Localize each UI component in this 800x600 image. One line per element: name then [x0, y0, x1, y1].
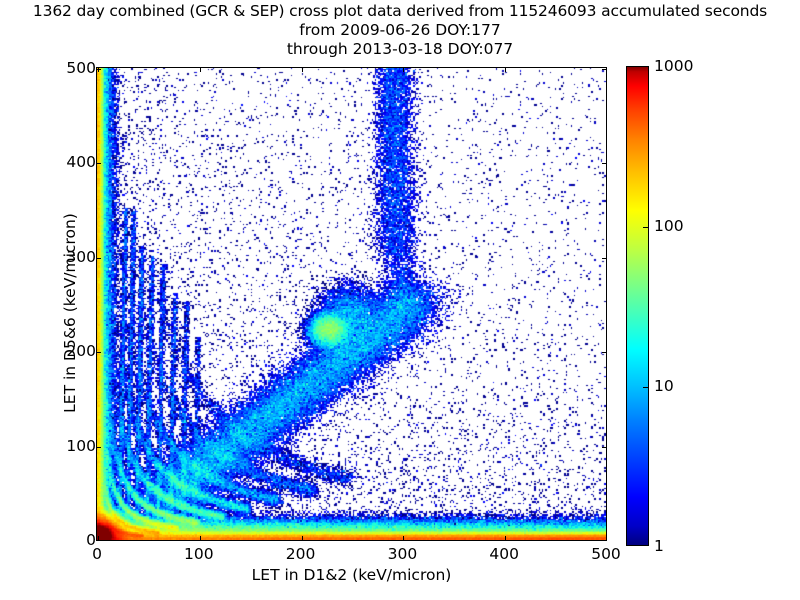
figure-title: 1362 day combined (GCR & SEP) cross plot…: [0, 2, 800, 59]
y-tick-mark-right: [602, 69, 606, 70]
colorbar-tick-label: 10: [654, 377, 674, 395]
colorbar-tick-mark: [643, 387, 648, 388]
x-tick-label: 300: [388, 545, 418, 563]
y-tick-mark-right: [602, 447, 606, 448]
colorbar-tick-mark: [643, 227, 648, 228]
y-tick-label: 0: [86, 531, 96, 549]
x-tick-label: 400: [489, 545, 519, 563]
y-tick-mark: [97, 352, 101, 353]
y-tick-mark: [97, 163, 101, 164]
figure-title-line-1: 1362 day combined (GCR & SEP) cross plot…: [0, 2, 800, 21]
colorbar-gradient: [627, 67, 648, 545]
y-axis-label: LET in D5&6 (keV/micron): [61, 76, 79, 550]
x-tick-mark-top: [403, 68, 404, 72]
x-tick-mark: [403, 536, 404, 540]
y-tick-mark-right: [602, 258, 606, 259]
x-tick-mark-top: [302, 68, 303, 72]
colorbar-tick-label: 1000: [654, 57, 693, 75]
x-tick-mark: [505, 536, 506, 540]
y-tick-label: 500: [66, 59, 96, 77]
figure-canvas: 1362 day combined (GCR & SEP) cross plot…: [0, 0, 800, 600]
colorbar-tick-label: 1: [654, 537, 664, 555]
x-tick-label: 200: [286, 545, 316, 563]
x-tick-mark: [302, 536, 303, 540]
colorbar[interactable]: [626, 66, 649, 546]
x-tick-mark: [98, 536, 99, 540]
x-tick-label: 500: [591, 545, 621, 563]
x-tick-mark-top: [505, 68, 506, 72]
y-tick-mark: [97, 69, 101, 70]
x-tick-mark: [200, 536, 201, 540]
colorbar-tick-label: 100: [654, 217, 684, 235]
x-axis-label: LET in D1&2 (keV/micron): [96, 566, 607, 584]
x-tick-mark-top: [200, 68, 201, 72]
figure-title-line-2: from 2009-06-26 DOY:177: [0, 21, 800, 40]
y-tick-mark-right: [602, 352, 606, 353]
x-tick-label: 100: [184, 545, 214, 563]
heatmap-data-layer: [97, 68, 606, 540]
y-tick-mark-right: [602, 163, 606, 164]
plot-axes[interactable]: [96, 67, 607, 541]
y-tick-mark: [97, 447, 101, 448]
y-tick-mark: [97, 258, 101, 259]
